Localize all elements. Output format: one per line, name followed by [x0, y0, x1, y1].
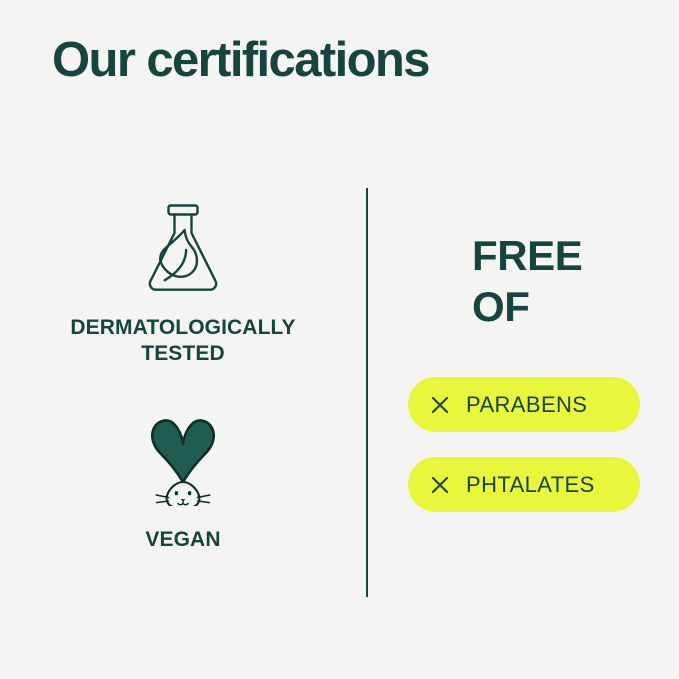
x-icon	[430, 395, 450, 415]
x-icon	[430, 475, 450, 495]
flask-leaf-icon	[144, 202, 222, 301]
free-of-heading: FREE OF	[472, 230, 582, 332]
free-of-list: PARABENS PHTALATES	[408, 377, 640, 512]
certification-label-line2: TESTED	[141, 342, 224, 365]
free-of-column: FREE OF PARABENS PHTALATES	[408, 188, 653, 597]
certification-item-vegan: VEGAN	[18, 406, 348, 553]
certifications-column: DERMATOLOGICALLY TESTED	[18, 188, 348, 597]
free-of-item-label: PHTALATES	[466, 472, 595, 498]
free-of-item-phtalates[interactable]: PHTALATES	[408, 457, 640, 512]
certification-label-line1: VEGAN	[145, 528, 220, 551]
page-title: Our certifications	[52, 32, 429, 90]
certifications-card: Our certifications DERMATOLOGICALLY	[0, 0, 679, 679]
certification-label-line1: DERMATOLOGICALLY	[70, 316, 295, 339]
free-of-item-parabens[interactable]: PARABENS	[408, 377, 640, 432]
vertical-divider	[366, 188, 368, 597]
free-of-heading-line2: OF	[472, 281, 582, 332]
free-of-item-label: PARABENS	[466, 392, 587, 418]
certification-item-dermatologically-tested: DERMATOLOGICALLY TESTED	[18, 202, 348, 368]
certification-label: VEGAN	[145, 527, 220, 553]
bunny-heart-icon	[133, 406, 233, 511]
certification-label: DERMATOLOGICALLY TESTED	[70, 315, 295, 368]
free-of-heading-line1: FREE	[472, 230, 582, 281]
